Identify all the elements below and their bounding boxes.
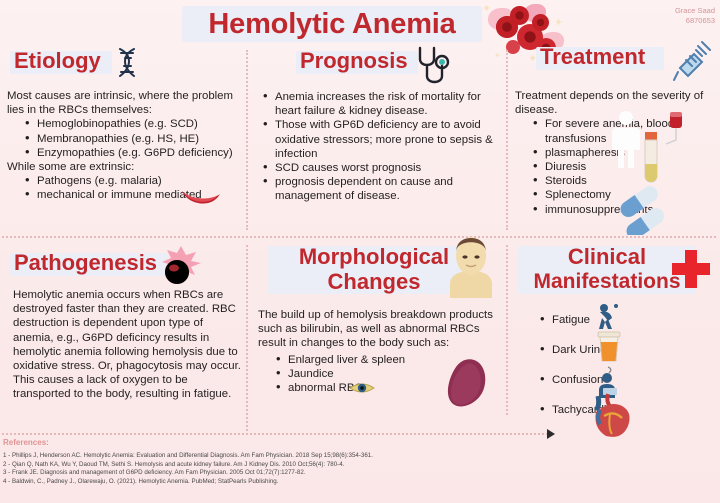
blood-tube-icon	[640, 130, 662, 188]
flow-arrow-icon	[547, 429, 555, 439]
prognosis-heading-text: Prognosis	[300, 48, 408, 73]
poster-header: Hemolytic Anemia Grace Saad 6870653 ✦ ✦ …	[0, 2, 720, 48]
spleen-icon	[444, 358, 490, 408]
stethoscope-icon	[412, 43, 460, 91]
morphological-heading-line1: Morphological	[268, 244, 480, 269]
clinical-heading-line1: Clinical	[518, 244, 696, 269]
prognosis-body: Anemia increases the risk of mortality f…	[258, 90, 496, 204]
sickle-cell-icon	[180, 188, 222, 210]
list-item: SCD causes worst prognosis	[275, 161, 496, 175]
divider-col1-col2-bottom	[246, 245, 248, 435]
heart-icon	[590, 392, 636, 440]
section-heading-treatment: Treatment	[540, 44, 645, 69]
pathogenesis-heading-text: Pathogenesis	[14, 250, 157, 275]
urine-cup-icon	[596, 330, 622, 364]
prognosis-bullet-list: Anemia increases the risk of mortality f…	[258, 90, 496, 204]
author-name: Grace Saad	[675, 6, 715, 16]
author-credit: Grace Saad 6870653	[675, 6, 715, 25]
syringe-icon	[672, 38, 714, 84]
clinical-heading-line2: Manifestations	[518, 269, 696, 294]
references-list: 1 - Phillips J, Henderson AC. Hemolytic …	[3, 452, 717, 486]
jaundiced-eye-icon	[349, 380, 375, 396]
divider-row-top	[2, 236, 716, 238]
section-heading-pathogenesis: Pathogenesis	[14, 250, 157, 275]
tired-person-icon	[592, 302, 622, 332]
page-title: Hemolytic Anemia	[182, 7, 482, 41]
bursting-rbc-icon	[155, 244, 207, 288]
list-item: Those with GP6D deficiency are to avoid …	[275, 118, 496, 161]
etiology-intro: Most causes are intrinsic, where the pro…	[7, 89, 240, 117]
section-heading-prognosis: Prognosis	[300, 48, 408, 73]
dna-icon	[110, 45, 146, 81]
reference-item: 3 - Frank JE. Diagnosis and management o…	[3, 469, 717, 478]
pills-icon	[616, 185, 682, 235]
author-id: 6870653	[675, 16, 715, 26]
divider-col2-col3-bottom	[506, 245, 508, 415]
iv-bag-icon	[660, 110, 690, 150]
section-heading-morphological: Morphological Changes	[268, 244, 480, 294]
section-heading-etiology: Etiology	[14, 48, 101, 73]
divider-row-bottom	[2, 433, 548, 435]
list-item: Confusion	[552, 365, 704, 395]
reference-item: 1 - Phillips J, Henderson AC. Hemolytic …	[3, 452, 717, 461]
pathogenesis-text: Hemolytic anemia occurs when RBCs are de…	[13, 288, 241, 402]
etiology-heading-text: Etiology	[14, 48, 101, 73]
list-item: Enzymopathies (e.g. G6PD deficiency)	[37, 146, 240, 160]
etiology-bullet-list: Hemoglobinopathies (e.g. SCD) Membranopa…	[7, 117, 240, 160]
treatment-heading-text: Treatment	[540, 44, 645, 69]
section-heading-clinical: Clinical Manifestations	[518, 244, 696, 294]
list-item: Pathogens (e.g. malaria)	[37, 174, 240, 188]
list-item: prognosis dependent on cause and managem…	[275, 175, 496, 203]
pathogenesis-body: Hemolytic anemia occurs when RBCs are de…	[13, 288, 241, 402]
infographic-poster: Hemolytic Anemia Grace Saad 6870653 ✦ ✦ …	[0, 0, 720, 503]
list-item: Dark Urine	[552, 335, 704, 365]
morphological-intro: The build up of hemolysis breakdown prod…	[258, 308, 498, 351]
etiology-body: Most causes are intrinsic, where the pro…	[7, 89, 240, 203]
morphological-heading-line2: Changes	[268, 269, 480, 294]
reference-item: 4 - Baldwin, C., Padney J., Olarewaju, O…	[3, 478, 717, 487]
list-item: Fatigue	[552, 305, 704, 335]
list-item: Hemoglobinopathies (e.g. SCD)	[37, 117, 240, 131]
divider-col1-col2-top	[246, 50, 248, 230]
list-item: Membranopathies (e.g. HS, HE)	[37, 132, 240, 146]
reference-item: 2 - Qian Q, Nath KA, Wu Y, Daoud TM, Set…	[3, 461, 717, 470]
references-heading: References:	[3, 438, 49, 447]
divider-col2-col3-top	[506, 50, 508, 230]
list-item: Anemia increases the risk of mortality f…	[275, 90, 496, 118]
etiology-intro2: While some are extrinsic:	[7, 160, 240, 174]
